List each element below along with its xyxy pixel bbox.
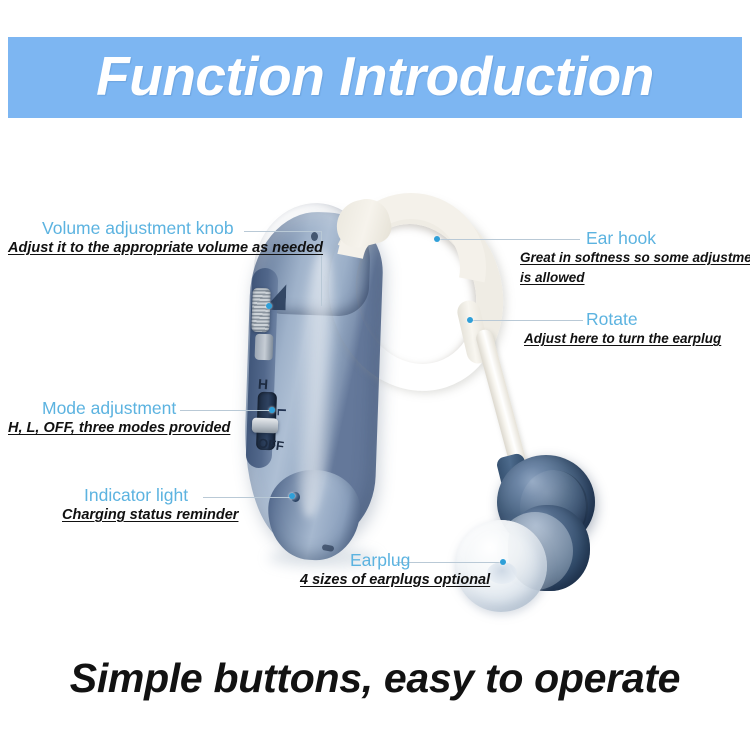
leader-dot-earhook xyxy=(434,236,440,242)
callout-title-mode-adjustment: Mode adjustment xyxy=(42,398,278,418)
callout-subtitle-ear-hook-line2: is allowed xyxy=(520,268,748,288)
function-introduction-page: Function Introduction H L OFF xyxy=(0,0,750,750)
callout-subtitle-rotate: Adjust here to turn the earplug xyxy=(524,329,748,349)
leader-dot-volume xyxy=(266,303,272,309)
callout-volume-adjustment-knob: Volume adjustment knob Adjust it to the … xyxy=(8,218,308,258)
ear-hook-arc-inner xyxy=(307,164,515,372)
callout-title-earplug: Earplug xyxy=(350,550,530,570)
earpiece-shell xyxy=(497,455,595,549)
callout-subtitle-volume-adjustment-knob: Adjust it to the appropriate volume as n… xyxy=(8,238,308,258)
callout-title-volume-adjustment-knob: Volume adjustment knob xyxy=(42,218,308,238)
tube-collar xyxy=(495,452,532,500)
callout-title-rotate: Rotate xyxy=(586,309,748,329)
mode-switch-label-high: H xyxy=(257,376,268,393)
callout-mode-adjustment: Mode adjustment H, L, OFF, three modes p… xyxy=(8,398,278,438)
leader-dot-rotate xyxy=(467,317,473,323)
volume-knob-guard xyxy=(255,334,274,361)
title-banner: Function Introduction xyxy=(8,37,742,118)
sound-tube xyxy=(474,328,542,524)
device-body-highlight xyxy=(289,249,343,519)
callout-earplug: Earplug 4 sizes of earplugs optional xyxy=(300,550,530,590)
callout-subtitle-ear-hook-line1: Great in softness so some adjustment xyxy=(520,248,748,268)
device-control-strip xyxy=(246,268,279,469)
mode-switch-label-off: OFF xyxy=(257,435,285,453)
sound-tube-upper xyxy=(455,298,492,366)
footer-caption: Simple buttons, easy to operate xyxy=(0,655,750,702)
earpiece-ring xyxy=(520,470,588,544)
ear-hook-root xyxy=(331,194,395,252)
callout-indicator-light: Indicator light Charging status reminder xyxy=(62,485,292,525)
ear-hook-arc xyxy=(304,174,528,414)
callout-subtitle-mode-adjustment: H, L, OFF, three modes provided xyxy=(8,418,278,438)
callout-subtitle-earplug: 4 sizes of earplugs optional xyxy=(300,570,530,590)
page-title: Function Introduction xyxy=(8,37,742,118)
callout-title-ear-hook: Ear hook xyxy=(586,228,748,248)
callout-title-indicator-light: Indicator light xyxy=(84,485,292,505)
callout-ear-hook: Ear hook Great in softness so some adjus… xyxy=(520,228,748,288)
callout-subtitle-indicator-light: Charging status reminder xyxy=(62,505,292,525)
volume-knob[interactable] xyxy=(251,288,271,333)
callout-rotate: Rotate Adjust here to turn the earplug xyxy=(524,309,748,349)
